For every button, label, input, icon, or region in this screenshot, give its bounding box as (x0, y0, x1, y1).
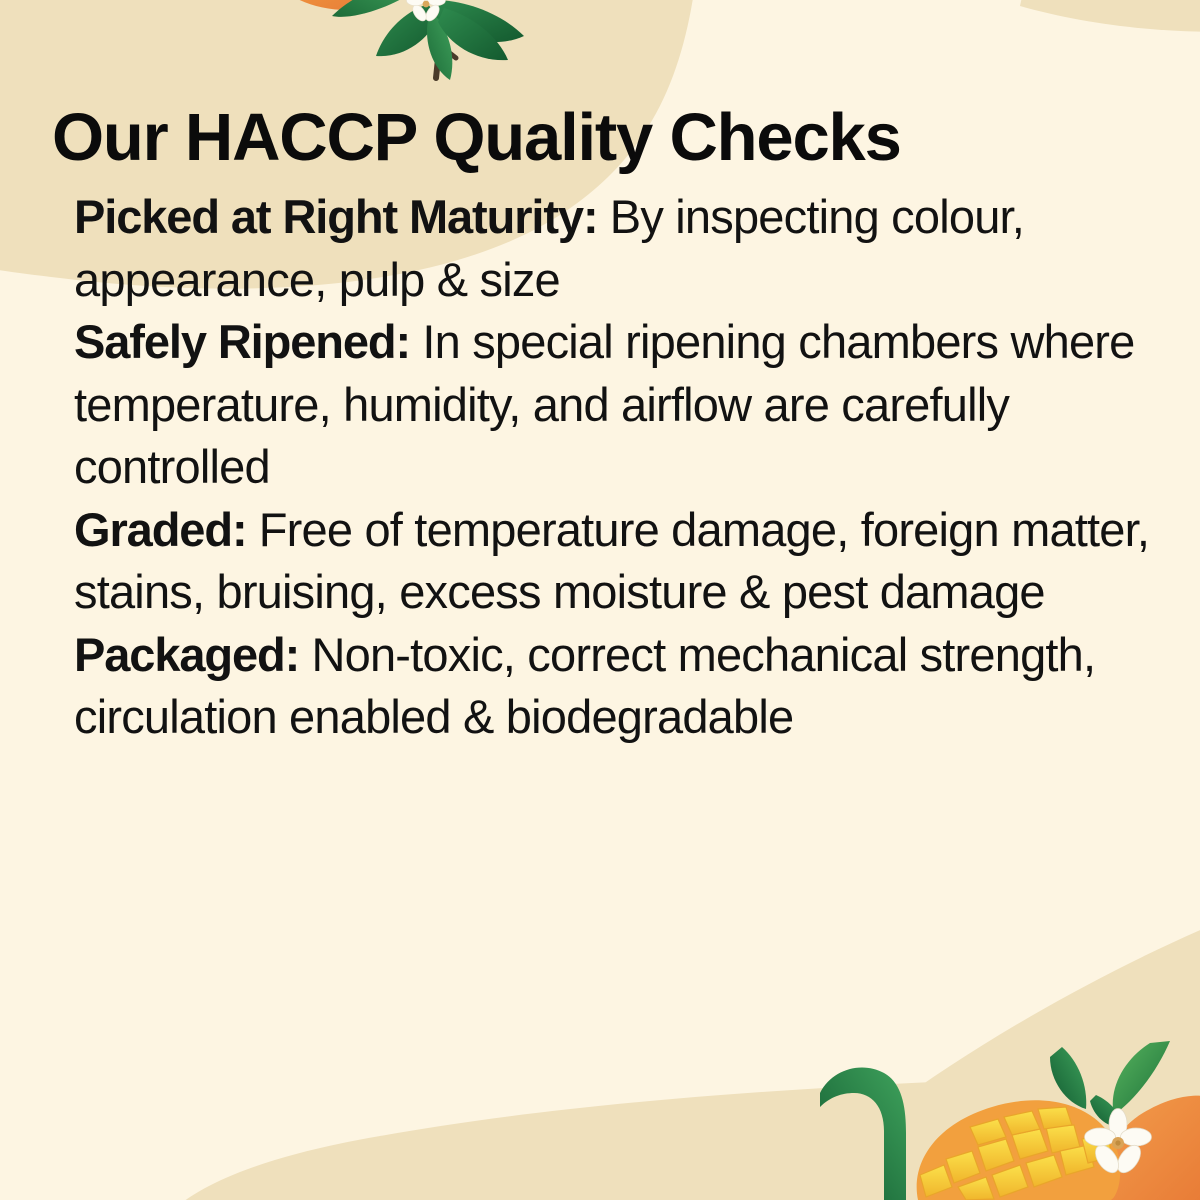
quality-checks-list: Picked at Right Maturity: By inspecting … (52, 172, 1154, 749)
list-item: Graded: Free of temperature damage, fore… (74, 499, 1154, 624)
list-item: Picked at Right Maturity: By inspecting … (74, 186, 1154, 311)
content-block: Our HACCP Quality Checks Picked at Right… (0, 0, 1200, 749)
check-term: Graded: (74, 503, 247, 556)
list-item: Packaged: Non-toxic, correct mechanical … (74, 624, 1154, 749)
poster-canvas: Our HACCP Quality Checks Picked at Right… (0, 0, 1200, 1200)
check-term: Packaged: (74, 628, 299, 681)
list-item: Safely Ripened: In special ripening cham… (74, 311, 1154, 499)
check-term: Safely Ripened: (74, 315, 410, 368)
page-title: Our HACCP Quality Checks (52, 0, 1154, 172)
check-term: Picked at Right Maturity: (74, 190, 598, 243)
